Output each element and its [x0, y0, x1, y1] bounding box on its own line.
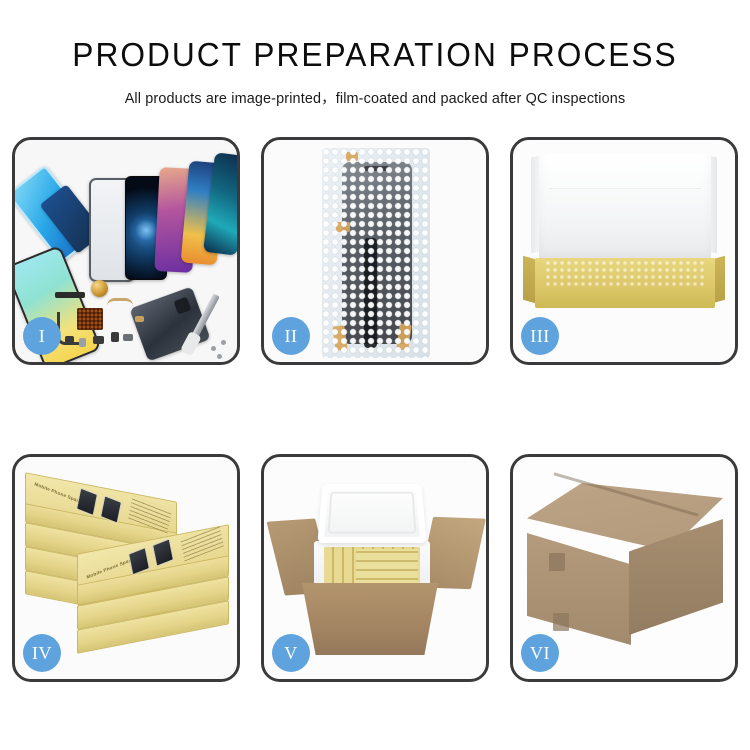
process-steps-grid: I II III	[12, 137, 738, 682]
bubble-wrapped-contents	[545, 260, 705, 286]
step-panel-2[interactable]: II	[261, 137, 489, 365]
carton-tape-patch	[549, 553, 565, 571]
step-panel-5[interactable]: V	[261, 454, 489, 682]
bubble-wrap-bag	[322, 148, 430, 358]
step-panel-1[interactable]: I	[12, 137, 240, 365]
step-panel-6[interactable]: VI	[510, 454, 738, 682]
step-badge-1: I	[23, 317, 61, 355]
page-subtitle: All products are image-printed，film-coat…	[0, 87, 750, 108]
speaker-coil-part	[91, 280, 108, 297]
styrofoam-lid	[317, 484, 426, 543]
step-badge-5: V	[272, 634, 310, 672]
step-badge-2: II	[272, 317, 310, 355]
small-chip-part	[111, 332, 119, 342]
page-title: PRODUCT PREPARATION PROCESS	[15, 38, 735, 71]
step-badge-4: IV	[23, 634, 61, 672]
white-foam-lid	[539, 154, 711, 262]
step-panel-4[interactable]: Mobile Phone Spare Parts Mobile Phone Sp…	[12, 454, 240, 682]
screw-part	[217, 354, 222, 359]
carton-front-face	[527, 533, 631, 645]
yellow-boxes-inside	[356, 549, 418, 587]
carton-tape-patch	[553, 613, 569, 631]
small-chip-part	[135, 316, 144, 322]
yellow-box-base	[535, 258, 715, 308]
screw-part	[211, 346, 216, 351]
page-header: PRODUCT PREPARATION PROCESS All products…	[0, 0, 750, 108]
small-chip-part	[65, 336, 74, 343]
step-panel-3[interactable]: III	[510, 137, 738, 365]
step-badge-6: VI	[521, 634, 559, 672]
small-chip-part	[79, 338, 86, 347]
small-chip-part	[123, 334, 133, 341]
bubble-texture	[322, 148, 430, 358]
small-chip-part	[93, 336, 104, 344]
screw-part	[221, 340, 226, 345]
carton-body	[302, 583, 438, 655]
flex-cable-part	[107, 298, 133, 315]
step-badge-3: III	[521, 317, 559, 355]
ribbon-connector-part	[55, 292, 85, 298]
